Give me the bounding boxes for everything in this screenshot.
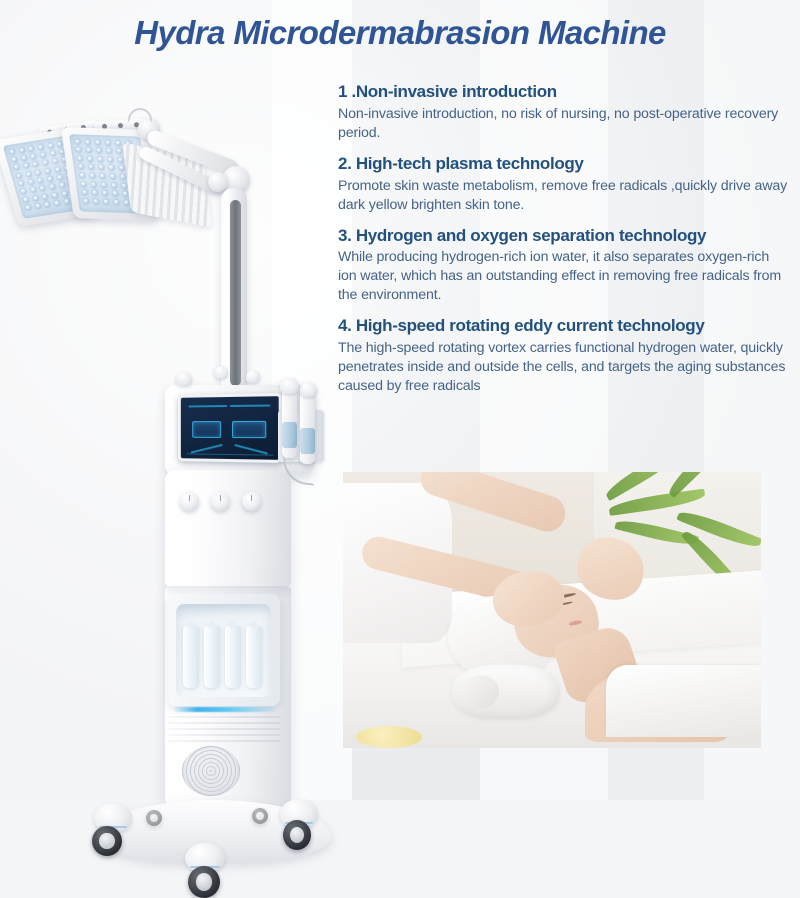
machine-cabinet-upper	[165, 470, 291, 586]
led-dot	[88, 165, 94, 170]
led-dot	[119, 166, 125, 171]
led-dot	[23, 197, 29, 203]
led-dot	[95, 140, 101, 145]
led-dot	[16, 173, 22, 179]
led-dot	[21, 155, 27, 161]
led-dot	[49, 184, 55, 190]
screen-button-left[interactable]	[192, 421, 221, 438]
led-dot	[111, 182, 117, 187]
led-dot	[25, 205, 31, 211]
photo-rolled-towel	[452, 665, 561, 717]
led-dot	[23, 163, 29, 169]
screen-button-right[interactable]	[232, 421, 266, 438]
led-dot	[20, 189, 26, 195]
page-title: Hydra Microdermabrasion Machine	[0, 14, 800, 52]
handpiece-tip-2	[300, 382, 317, 397]
column-accent-strip	[230, 200, 241, 386]
hydra-microdermabrasion-machine-photo	[0, 110, 345, 800]
led-dot	[92, 190, 98, 195]
solution-bottle-bay[interactable]	[176, 604, 271, 697]
led-dot	[50, 151, 56, 157]
feature-item: 1 .Non-invasive introduction Non-invasiv…	[338, 82, 790, 143]
led-dot	[83, 198, 89, 203]
led-dot	[86, 148, 92, 153]
led-dot	[114, 199, 120, 204]
control-knob-2[interactable]	[211, 492, 230, 511]
led-dot	[93, 199, 99, 204]
led-dot	[11, 157, 17, 163]
led-dot	[79, 173, 85, 178]
led-dot	[121, 183, 127, 188]
led-dot	[59, 183, 65, 189]
accessory-probe-left	[176, 372, 192, 386]
led-dot	[120, 174, 126, 179]
accessory-probe-right	[246, 370, 260, 383]
led-dot	[54, 200, 60, 206]
feature-body: Promote skin waste metabolism, remove fr…	[338, 177, 790, 215]
led-dot	[47, 176, 53, 182]
feature-body: Non-invasive introduction, no risk of nu…	[338, 105, 790, 143]
led-dot	[33, 162, 39, 168]
led-dot	[30, 154, 36, 160]
feature-body: The high-speed rotating vortex carries f…	[338, 339, 790, 396]
caster-wheel-4	[146, 810, 162, 826]
led-dot	[9, 149, 15, 155]
led-dot	[42, 160, 48, 166]
feature-item: 2. High-tech plasma technology Promote s…	[338, 154, 790, 215]
led-dot	[45, 168, 51, 174]
led-dot	[102, 191, 108, 196]
control-touchscreen[interactable]	[178, 393, 282, 463]
led-dot	[38, 144, 44, 150]
caster-wheel-2	[283, 820, 311, 850]
led-dot	[81, 181, 87, 186]
led-dot	[40, 186, 46, 192]
led-dot	[91, 182, 97, 187]
led-dot	[61, 191, 67, 197]
feature-list: 1 .Non-invasive introduction Non-invasiv…	[338, 82, 790, 396]
led-dot	[54, 167, 60, 173]
led-dot	[78, 164, 84, 169]
led-dot	[52, 192, 58, 198]
led-dot	[18, 147, 24, 153]
led-dot	[123, 191, 129, 196]
led-dot	[101, 182, 107, 187]
photo-body-towel	[606, 665, 761, 737]
caster-wheel-5	[252, 808, 268, 824]
led-dot	[35, 203, 41, 209]
solution-bottle	[225, 626, 241, 688]
spa-facial-treatment-photo	[343, 472, 761, 748]
feature-body: While producing hydrogen-rich ion water,…	[338, 248, 790, 305]
led-dot	[118, 157, 124, 162]
led-dot	[28, 146, 34, 152]
head-cable	[128, 108, 152, 122]
led-dot	[82, 190, 88, 195]
handpiece-tip-1	[280, 378, 299, 394]
led-dot	[64, 199, 70, 205]
led-dot	[44, 202, 50, 208]
led-dot	[25, 171, 31, 177]
arm-elbow-joint-inner	[208, 172, 228, 192]
feature-item: 4. High-speed rotating eddy current tech…	[338, 316, 790, 396]
accessory-probe-mid	[214, 366, 228, 379]
led-dot	[28, 179, 34, 185]
led-dot	[117, 149, 123, 154]
handpiece-2[interactable]	[300, 392, 315, 464]
feature-heading: 3. Hydrogen and oxygen separation techno…	[338, 226, 790, 247]
led-dot	[99, 165, 105, 170]
caster-wheel-1	[92, 826, 122, 856]
led-dot	[90, 173, 96, 178]
led-dot	[77, 156, 83, 161]
caster-wheel-3	[188, 866, 220, 898]
status-led-strip	[172, 707, 275, 712]
led-dot	[96, 148, 102, 153]
led-dot	[100, 174, 106, 179]
led-dot	[87, 156, 93, 161]
feature-item: 3. Hydrogen and oxygen separation techno…	[338, 226, 790, 306]
led-dot	[112, 191, 118, 196]
solution-bottle	[246, 626, 262, 688]
led-dot	[42, 194, 48, 200]
led-dot	[32, 195, 38, 201]
led-dot	[40, 152, 46, 158]
led-dot	[75, 139, 81, 144]
feature-heading: 2. High-tech plasma technology	[338, 154, 790, 175]
led-dot	[115, 140, 121, 145]
led-dot	[37, 178, 43, 184]
led-dot	[52, 159, 58, 165]
led-dot	[97, 157, 103, 162]
led-dot	[105, 140, 111, 145]
solution-bottle	[183, 626, 199, 688]
led-dot	[18, 181, 24, 187]
led-dot	[103, 199, 109, 204]
led-dot	[85, 139, 91, 144]
control-knob-3[interactable]	[242, 492, 261, 511]
photo-flower	[356, 726, 423, 748]
control-knob-1[interactable]	[180, 492, 199, 511]
led-dot	[47, 143, 53, 149]
feature-heading: 1 .Non-invasive introduction	[338, 82, 790, 103]
led-dot	[109, 165, 115, 170]
speaker-vent-grille	[182, 746, 240, 796]
led-dot	[13, 165, 19, 171]
solution-bottle	[204, 626, 220, 688]
handpiece-1[interactable]	[282, 388, 297, 458]
feature-heading: 4. High-speed rotating eddy current tech…	[338, 316, 790, 337]
led-dot	[30, 187, 36, 193]
led-dot	[35, 170, 41, 176]
led-dot	[110, 174, 116, 179]
led-dot	[108, 157, 114, 162]
led-dot	[57, 175, 63, 181]
led-dot	[76, 147, 82, 152]
led-dot	[106, 149, 112, 154]
